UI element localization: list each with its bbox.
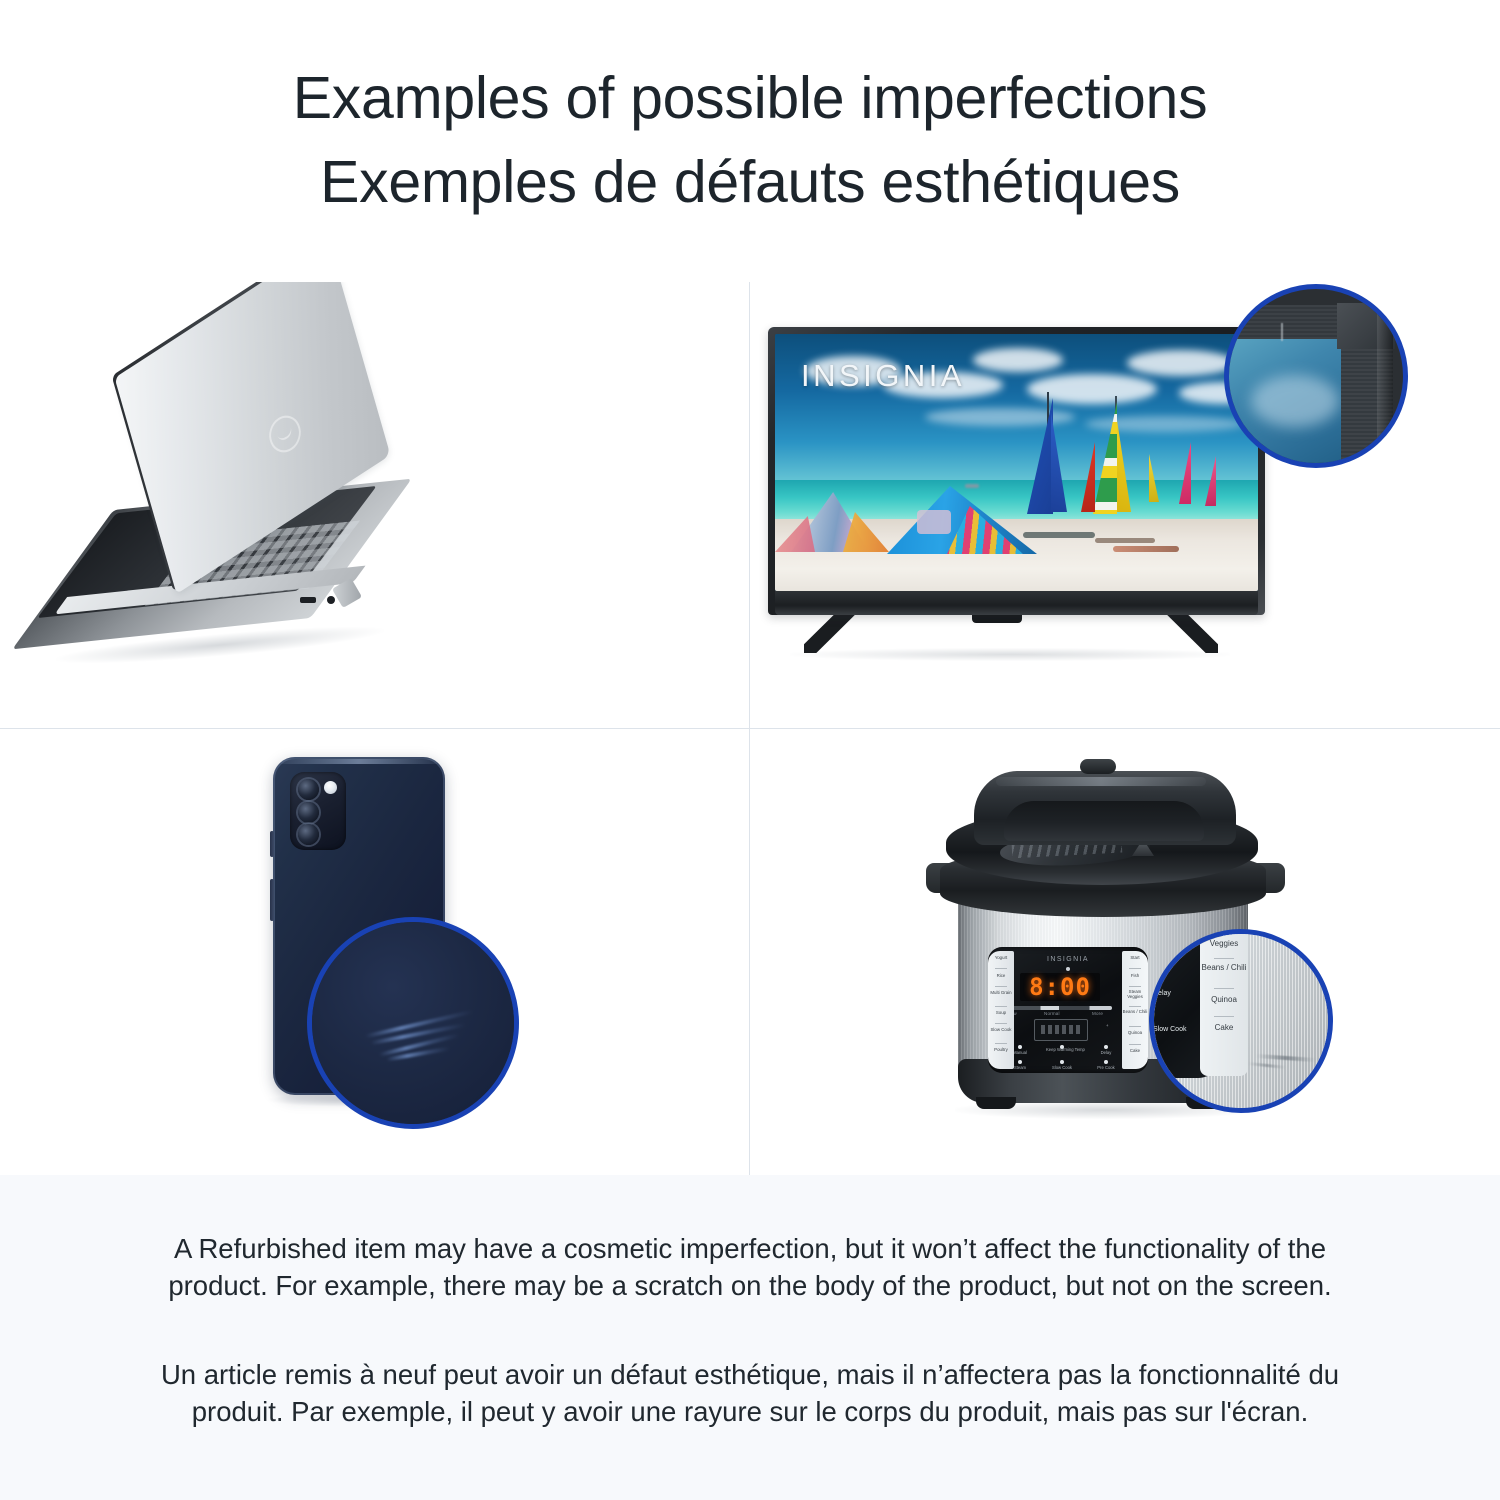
strip-divider	[1129, 986, 1141, 987]
laptop-usbc-port	[300, 597, 316, 603]
cooker-pressure-level-bar[interactable]	[1010, 1006, 1112, 1010]
camera-flash-icon	[324, 781, 337, 794]
panel-pressure-cooker: INSIGNIA 8:00 Low Normal More – + Manual…	[750, 729, 1500, 1175]
phone-volume-button	[270, 831, 274, 857]
magnified-label-veggies: Veggies	[1200, 940, 1248, 948]
cooker-program-select[interactable]	[1034, 1019, 1088, 1041]
cooker-button-pre-cook[interactable]: Pre Cook	[1092, 1066, 1120, 1071]
cooker-status-indicator	[1066, 967, 1070, 971]
cooker-left-button-1[interactable]: Rice	[988, 974, 1014, 979]
cooker-button-indicator	[1104, 1060, 1108, 1064]
phone-camera-module	[290, 772, 346, 850]
phone-power-button	[270, 879, 274, 921]
cooker-button-delay[interactable]: Delay	[1092, 1051, 1120, 1056]
cooker-lid-handle-highlight	[996, 777, 1206, 786]
footer-paragraph-english: A Refurbished item may have a cosmetic i…	[0, 1231, 1500, 1305]
strip-divider	[1129, 968, 1141, 969]
cooker-left-button-0[interactable]: Yogurt	[988, 956, 1014, 961]
laptop-illustration	[0, 282, 750, 728]
magnified-label-beans-chili: Beans / Chili	[1200, 964, 1248, 972]
phone-top-highlight	[281, 759, 437, 764]
tv-screen: INSIGNIA	[775, 334, 1258, 591]
cooker-button-slow-cook[interactable]: Slow Cook	[1046, 1066, 1078, 1071]
cooker-lid-handle-inner	[1004, 801, 1204, 841]
cooker-right-button-4[interactable]: Quinoa	[1122, 1031, 1148, 1036]
cooker-left-button-2[interactable]: Multi Grain	[988, 991, 1014, 996]
panel-smartphone	[0, 729, 750, 1175]
tv-leg-right	[1130, 613, 1218, 653]
scene-hull	[1095, 538, 1155, 543]
cooker-plus-button[interactable]: +	[1106, 1024, 1108, 1029]
cooker-left-button-4[interactable]: Slow Cook	[988, 1028, 1014, 1033]
cooker-right-button-1[interactable]: Fish	[1122, 974, 1148, 979]
magnified-label-delay: Delay	[1150, 990, 1195, 997]
cooker-button-keep-warm[interactable]: Keep Warming Temp	[1046, 1048, 1078, 1053]
strip-divider	[1129, 1006, 1141, 1007]
refurbished-imperfections-infographic: Examples of possible imperfections Exemp…	[0, 0, 1500, 1500]
laptop-headphone-jack	[327, 596, 335, 604]
tv-body: INSIGNIA	[768, 327, 1265, 615]
cooker-led-display: 8:00	[1020, 973, 1100, 1001]
magnifier-circle-smartphone	[307, 917, 519, 1129]
strip-divider	[1214, 958, 1234, 959]
cooker-bar-label-more: More	[1092, 1011, 1103, 1016]
cooker-bar-label-normal: Normal	[1044, 1011, 1060, 1016]
magnified-label-quinoa: Quinoa	[1200, 996, 1248, 1004]
strip-divider	[995, 968, 1007, 969]
pressure-cooker-illustration: INSIGNIA 8:00 Low Normal More – + Manual…	[750, 729, 1500, 1175]
cooker-right-button-strip[interactable]: Start Fish Steam Veggies Beans / Chili Q…	[1122, 951, 1148, 1069]
magnified-label-cake: Cake	[1200, 1024, 1248, 1032]
strip-divider	[995, 986, 1007, 987]
magnified-button-strip: Veggies Beans / Chili Quinoa Cake	[1200, 929, 1248, 1076]
cooker-right-button-5[interactable]: Cake	[1122, 1049, 1148, 1054]
cooker-left-button-5[interactable]: Poultry	[988, 1048, 1014, 1053]
strip-divider	[995, 1023, 1007, 1024]
cooker-handle-knob	[1080, 759, 1116, 774]
tv-leg-left	[804, 613, 892, 653]
scene-cloud	[1085, 416, 1245, 432]
scene-cloud	[1127, 350, 1235, 376]
strip-divider	[1214, 1016, 1234, 1017]
magnifier-circle-pressure-cooker: Delay Slow Cook Veggies Beans / Chili Qu…	[1149, 929, 1333, 1113]
footer-paragraph-french: Un article remis à neuf peut avoir un dé…	[0, 1357, 1500, 1431]
page-title-french: Exemples de défauts esthétiques	[0, 148, 1500, 216]
footer: A Refurbished item may have a cosmetic i…	[0, 1175, 1500, 1500]
scene-hull	[1023, 532, 1095, 538]
scuff-mark	[1281, 323, 1283, 341]
cooker-button-indicator	[1018, 1060, 1022, 1064]
camera-lens-icon	[298, 779, 319, 800]
strip-divider	[1129, 1044, 1141, 1045]
scene-distant-boat	[965, 484, 979, 488]
header: Examples of possible imperfections Exemp…	[0, 0, 1500, 282]
magnified-bezel-side-edge	[1377, 307, 1393, 468]
page-title-english: Examples of possible imperfections	[0, 64, 1500, 132]
cooker-left-button-strip[interactable]: Yogurt Rice Multi Grain Soup Slow Cook P…	[988, 951, 1014, 1069]
strip-divider	[995, 1006, 1007, 1007]
panel-television: INSIGNIA	[750, 282, 1500, 728]
magnifier-circle-television	[1224, 284, 1408, 468]
magnified-label-slow-cook: Slow Cook	[1150, 1026, 1195, 1033]
strip-divider	[1129, 1026, 1141, 1027]
grid-divider-horizontal	[0, 728, 1500, 729]
scene-hull	[1113, 546, 1179, 552]
product-example-grid: INSIGNIA	[0, 282, 1500, 1175]
strip-divider	[995, 1043, 1007, 1044]
tv-brand-logo: INSIGNIA	[801, 358, 965, 394]
tv-shadow	[790, 648, 1230, 661]
scene-cloud	[973, 348, 1063, 372]
cooker-right-button-3[interactable]: Beans / Chili	[1122, 1010, 1148, 1015]
tv-bottom-bezel	[775, 591, 1258, 615]
cooker-button-indicator	[1104, 1045, 1108, 1049]
scene-tent-patch	[917, 510, 951, 534]
cooker-right-button-0[interactable]: Start	[1122, 956, 1148, 961]
camera-lens-icon	[298, 802, 319, 823]
strip-divider	[1214, 988, 1234, 989]
panel-laptop	[0, 282, 750, 728]
magnified-cloud	[1251, 375, 1339, 427]
cooker-foot-left	[976, 1097, 1016, 1109]
cooker-right-button-2[interactable]: Steam Veggies	[1122, 990, 1148, 1000]
cooker-button-indicator	[1060, 1060, 1064, 1064]
cooker-left-button-3[interactable]: Soup	[988, 1011, 1014, 1016]
camera-lens-icon	[298, 824, 319, 845]
cooker-button-indicator	[1018, 1045, 1022, 1049]
